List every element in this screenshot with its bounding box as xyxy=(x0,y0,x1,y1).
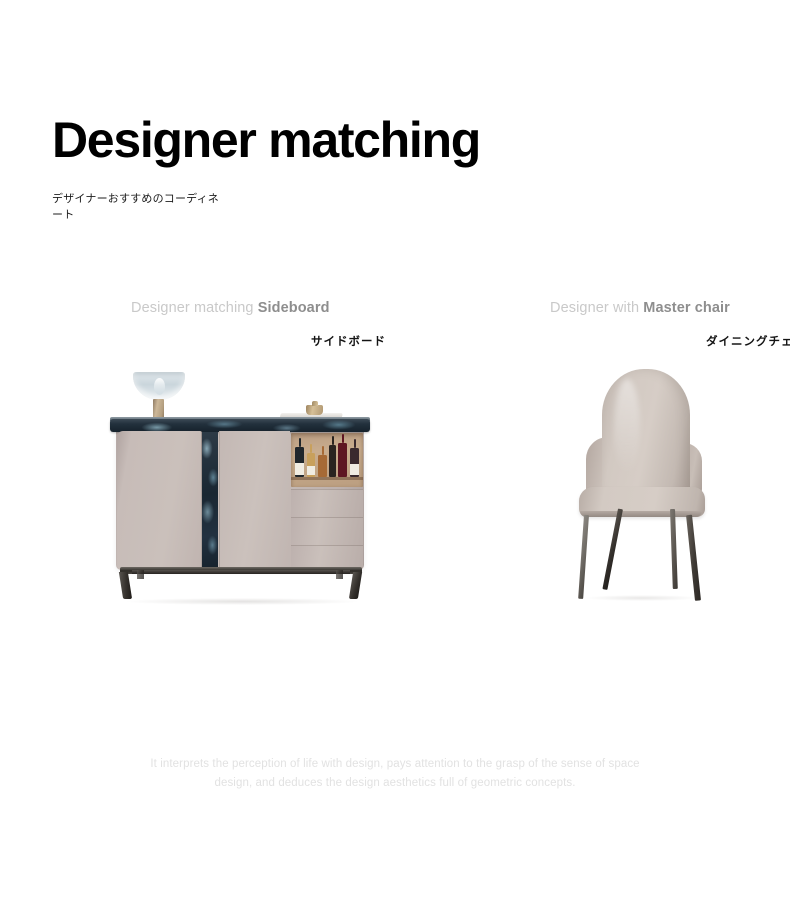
chair-shadow xyxy=(586,595,698,601)
sideboard-drawer xyxy=(291,517,363,545)
chair-backrest-highlight xyxy=(614,379,640,475)
product-column-sideboard[interactable]: Designer matching Sideboard サイドボード xyxy=(108,300,386,627)
sideboard-middle-door xyxy=(219,431,290,570)
chair-leg xyxy=(602,509,623,590)
wine-bottle-icon xyxy=(350,448,359,477)
wine-bottle-icon xyxy=(295,447,304,477)
chair-heading-prefix: Designer with xyxy=(550,300,643,316)
wine-bottle-icon xyxy=(338,443,347,477)
sideboard-leg xyxy=(119,572,132,599)
sideboard-leg xyxy=(336,570,343,579)
sideboard-heading-strong: Sideboard xyxy=(258,300,330,316)
brass-lidded-jar-icon xyxy=(306,405,323,415)
sideboard-label-jp: サイドボード xyxy=(108,333,386,349)
sideboard-heading: Designer matching Sideboard xyxy=(108,300,386,317)
chair-leg xyxy=(578,515,589,599)
sideboard-leg xyxy=(349,572,362,599)
chair-leg xyxy=(670,509,678,589)
bottle-label xyxy=(307,466,315,476)
page-title: Designer matching xyxy=(52,112,652,168)
sideboard-illustration xyxy=(108,367,374,623)
bottle-label xyxy=(295,463,304,475)
product-column-chair[interactable]: Designer with Master chair ダイニングチェア xyxy=(536,300,790,627)
wine-bottle-icon xyxy=(307,453,315,477)
chair-image[interactable] xyxy=(536,367,790,627)
product-columns: Designer matching Sideboard サイドボード xyxy=(0,300,790,660)
sideboard-drawer xyxy=(291,489,363,517)
sideboard-leg xyxy=(137,570,144,579)
wine-bottle-icon xyxy=(329,445,336,477)
sideboard-shadow xyxy=(126,598,358,605)
chair-heading: Designer with Master chair xyxy=(536,300,790,317)
sideboard-marble-insert xyxy=(202,432,218,570)
footer-description: It interprets the perception of life wit… xyxy=(135,755,655,793)
chair-heading-strong: Master chair xyxy=(643,300,730,316)
sideboard-left-door xyxy=(117,431,202,570)
chair-seat-edge xyxy=(580,511,702,517)
sideboard-base-rail-inner xyxy=(132,570,350,574)
chair-label-jp: ダイニングチェア xyxy=(536,333,790,349)
decanter-icon xyxy=(318,455,327,477)
sideboard-heading-prefix: Designer matching xyxy=(131,300,258,316)
sideboard-wine-niche xyxy=(291,433,363,487)
sideboard-image[interactable] xyxy=(108,367,386,627)
chair-illustration xyxy=(574,369,734,625)
page-subtitle-jp: デザイナーおすすめのコーディネート xyxy=(52,192,224,224)
page-header: Designer matching デザイナーおすすめのコーディネート xyxy=(52,112,652,224)
chair-leg xyxy=(686,515,701,601)
wine-niche-shelf xyxy=(291,477,363,480)
glass-compote-bowl-icon xyxy=(133,372,185,400)
bottle-label xyxy=(350,464,359,476)
